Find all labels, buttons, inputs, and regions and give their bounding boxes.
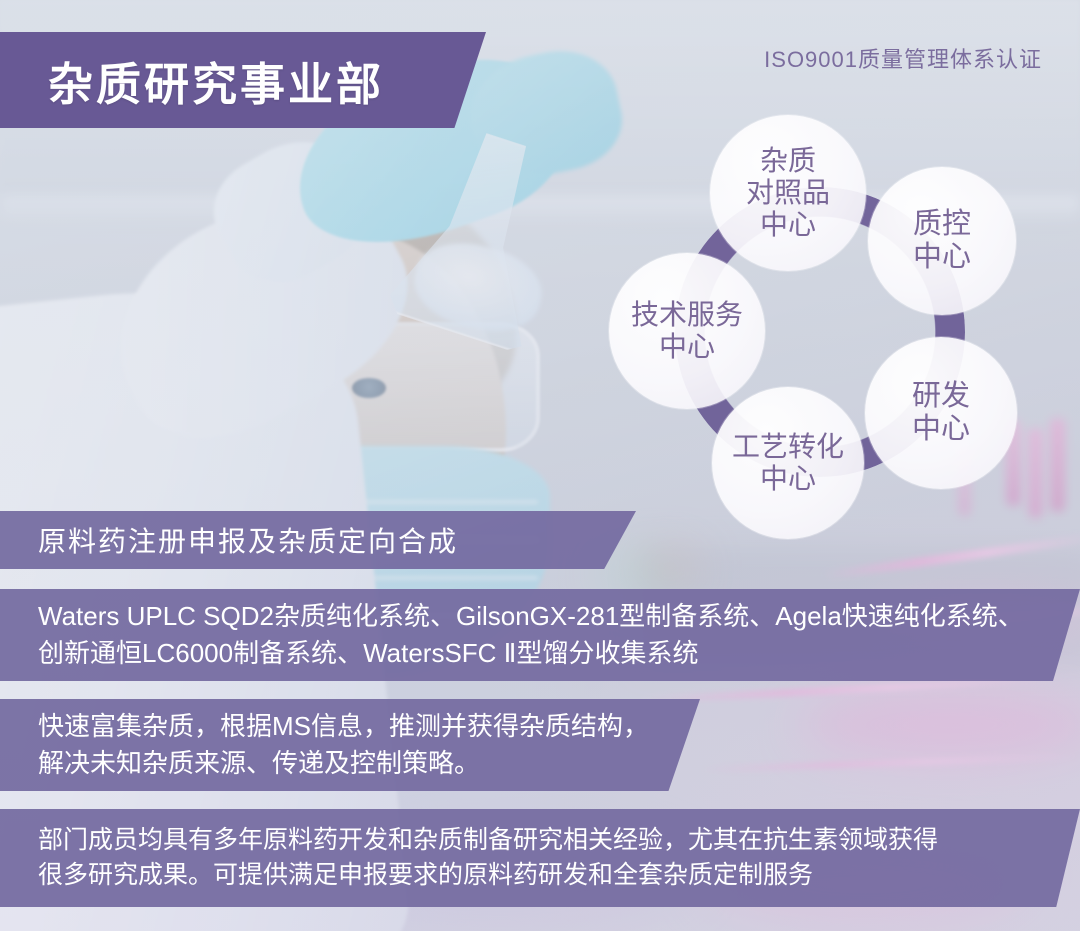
bubble-line: 质控 (913, 208, 971, 241)
bubble-line: 杂质 (760, 145, 816, 177)
bubble-line: 对照品 (746, 177, 830, 209)
bubble-line: 中心 (912, 413, 970, 446)
title-banner: 杂质研究事业部 (0, 32, 486, 128)
center-bubble-technical-service[interactable]: 技术服务 中心 (609, 253, 765, 409)
center-bubble-process-transfer[interactable]: 工艺转化 中心 (712, 387, 864, 539)
bubble-line: 中心 (760, 463, 816, 495)
bubble-line: 工艺转化 (732, 431, 844, 463)
band-line: 原料药注册申报及杂质定向合成 (38, 520, 636, 560)
band-line: 快速富集杂质，根据MS信息，推测并获得杂质结构， (38, 708, 700, 745)
content-band-equipment: Waters UPLC SQD2杂质纯化系统、GilsonGX-281型制备系统… (0, 589, 1080, 681)
bubble-line: 研发 (912, 380, 970, 413)
band-line: 解决未知杂质来源、传递及控制策略。 (38, 745, 700, 782)
center-bubble-reference-standard[interactable]: 杂质 对照品 中心 (710, 115, 866, 271)
poster-root: 杂质研究事业部 ISO9001质量管理体系认证 杂质 对照品 中心 质控 中心 … (0, 0, 1080, 931)
content-band-capability: 快速富集杂质，根据MS信息，推测并获得杂质结构， 解决未知杂质来源、传递及控制策… (0, 699, 700, 791)
bubble-line: 技术服务 (631, 299, 743, 331)
band-line: Waters UPLC SQD2杂质纯化系统、GilsonGX-281型制备系统… (38, 598, 1080, 635)
bubble-line: 中心 (913, 241, 971, 274)
iso-certification-label: ISO9001质量管理体系认证 (764, 42, 1042, 74)
bubble-line: 中心 (760, 209, 816, 241)
page-title: 杂质研究事业部 (48, 48, 384, 113)
center-bubble-research-development[interactable]: 研发 中心 (865, 337, 1017, 489)
content-band-team: 部门成员均具有多年原料药开发和杂质制备研究相关经验，尤其在抗生素领域获得 很多研… (0, 809, 1080, 907)
band-line: 很多研究成果。可提供满足申报要求的原料药研发和全套杂质定制服务 (38, 858, 1080, 894)
content-band-registration: 原料药注册申报及杂质定向合成 (0, 511, 636, 569)
band-line: 部门成员均具有多年原料药开发和杂质制备研究相关经验，尤其在抗生素领域获得 (38, 823, 1080, 859)
five-center-diagram: 杂质 对照品 中心 质控 中心 技术服务 中心 研发 中心 工艺转化 中心 (595, 105, 1045, 535)
band-line: 创新通恒LC6000制备系统、WatersSFC Ⅱ型馏分收集系统 (38, 635, 1080, 672)
bubble-line: 中心 (659, 331, 715, 363)
center-bubble-quality-control[interactable]: 质控 中心 (868, 167, 1016, 315)
